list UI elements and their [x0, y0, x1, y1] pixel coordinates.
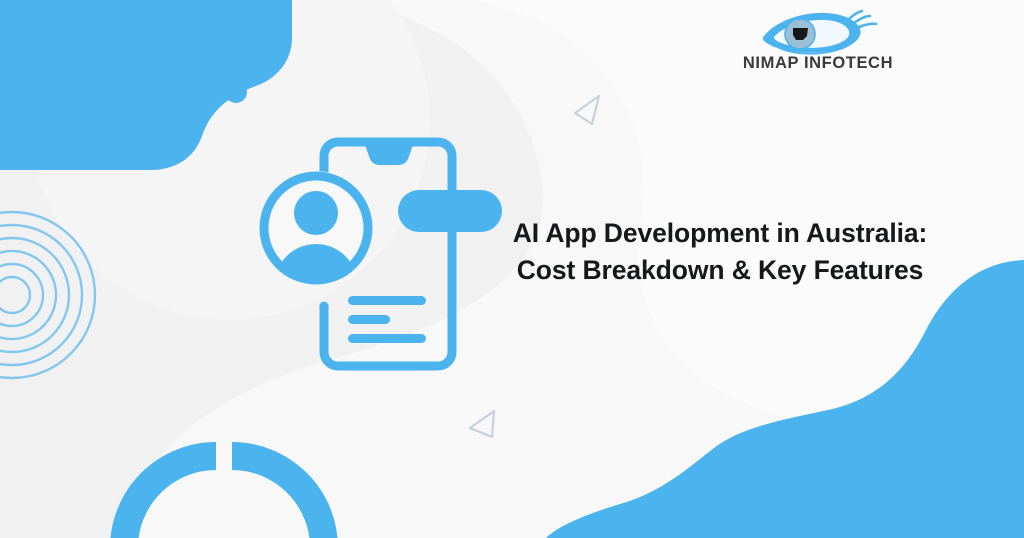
avatar-head-icon — [294, 191, 338, 235]
banner: NIMAP INFOTECH AI App Development in Aus… — [0, 0, 1024, 538]
logo: NIMAP INFOTECH — [718, 6, 918, 84]
page-title-line-1: AI App Development in Australia: — [470, 215, 970, 252]
triangle-outline-top — [575, 96, 599, 124]
content-line-short — [348, 315, 390, 324]
content-line-long-bottom — [348, 334, 426, 343]
blue-dot-top-left — [225, 81, 247, 103]
content-line-long-top — [348, 296, 426, 305]
page-title: AI App Development in Australia: Cost Br… — [470, 215, 970, 289]
logo-wordmark: NIMAP INFOTECH — [718, 54, 918, 73]
phone-notch-icon — [364, 142, 414, 165]
eye-logo-icon — [718, 6, 918, 56]
triangle-outline-bottom — [470, 411, 494, 437]
donut-ring-bottom-left — [124, 456, 324, 538]
concentric-rings-left — [0, 212, 95, 378]
page-title-line-2: Cost Breakdown & Key Features — [470, 252, 970, 289]
